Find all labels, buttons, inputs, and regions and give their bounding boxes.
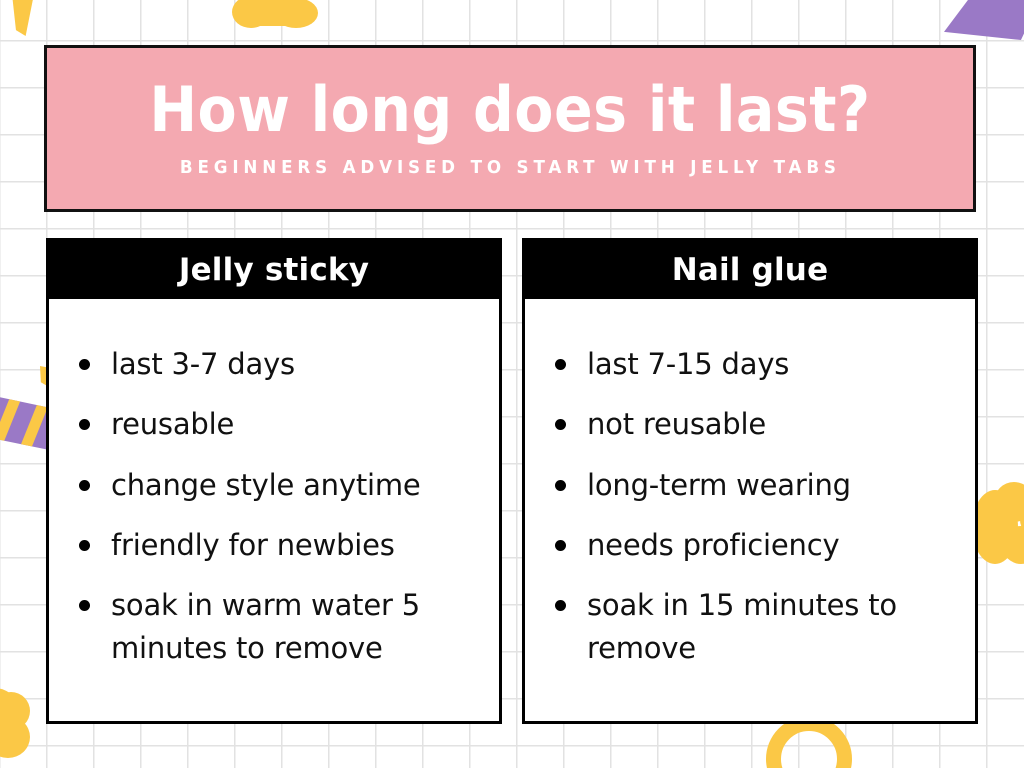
bullet-dot-icon — [555, 540, 566, 551]
bullet-dot-icon — [555, 600, 566, 611]
list-item-label: friendly for newbies — [111, 528, 395, 562]
page-title: How long does it last? — [149, 79, 870, 141]
header-banner: How long does it last? BEGINNERS ADVISED… — [44, 45, 976, 212]
feature-list-nail-glue: last 7-15 days not reusable long-term we… — [543, 343, 957, 669]
yellow-cloud-top-center-icon — [232, 0, 318, 48]
bullet-dot-icon — [555, 480, 566, 491]
bullet-dot-icon — [79, 480, 90, 491]
list-item: reusable — [67, 403, 481, 445]
list-item-label: last 7-15 days — [587, 347, 789, 381]
list-item: change style anytime — [67, 464, 481, 506]
list-item: long-term wearing — [543, 464, 957, 506]
feature-list-jelly-sticky: last 3-7 days reusable change style anyt… — [67, 343, 481, 669]
list-item: soak in warm water 5 minutes to remove — [67, 584, 481, 669]
card-body-jelly-sticky: last 3-7 days reusable change style anyt… — [49, 299, 499, 721]
bullet-dot-icon — [555, 359, 566, 370]
list-item-label: last 3-7 days — [111, 347, 295, 381]
list-item-label: reusable — [111, 407, 234, 441]
bullet-dot-icon — [79, 419, 90, 430]
comparison-card-jelly-sticky: Jelly sticky last 3-7 days reusable chan… — [46, 238, 502, 724]
list-item: last 7-15 days — [543, 343, 957, 385]
list-item: soak in 15 minutes to remove — [543, 584, 957, 669]
list-item: not reusable — [543, 403, 957, 445]
card-title-jelly-sticky: Jelly sticky — [49, 241, 499, 299]
list-item-label: soak in warm water 5 minutes to remove — [111, 588, 420, 664]
list-item: friendly for newbies — [67, 524, 481, 566]
page-subtitle: BEGINNERS ADVISED TO START WITH JELLY TA… — [180, 157, 841, 178]
list-item-label: soak in 15 minutes to remove — [587, 588, 897, 664]
list-item-label: change style anytime — [111, 468, 421, 502]
list-item-label: not reusable — [587, 407, 766, 441]
card-title-nail-glue: Nail glue — [525, 241, 975, 299]
bullet-dot-icon — [79, 359, 90, 370]
infographic-poster: How long does it last? BEGINNERS ADVISED… — [0, 0, 1024, 768]
bullet-dot-icon — [555, 419, 566, 430]
comparison-cards: Jelly sticky last 3-7 days reusable chan… — [46, 238, 978, 724]
bullet-dot-icon — [79, 540, 90, 551]
yellow-blob-right-icon — [972, 482, 1024, 568]
comparison-card-nail-glue: Nail glue last 7-15 days not reusable lo… — [522, 238, 978, 724]
list-item-label: long-term wearing — [587, 468, 851, 502]
list-item: needs proficiency — [543, 524, 957, 566]
list-item-label: needs proficiency — [587, 528, 839, 562]
list-item: last 3-7 days — [67, 343, 481, 385]
bullet-dot-icon — [79, 600, 90, 611]
card-body-nail-glue: last 7-15 days not reusable long-term we… — [525, 299, 975, 721]
